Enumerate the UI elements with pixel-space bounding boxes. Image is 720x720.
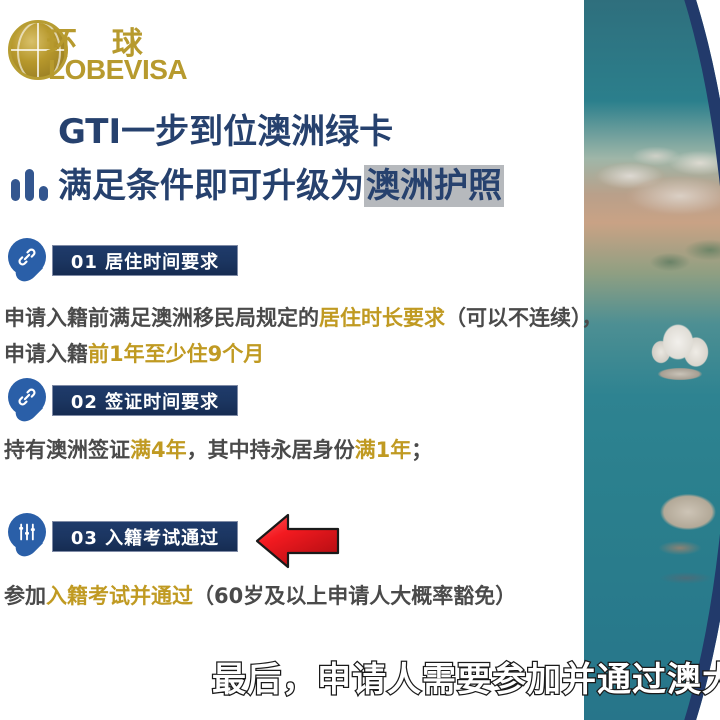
section-body-01: 申请入籍前满足澳洲移民局规定的居住时长要求（可以不连续），申请入籍前1年至少住9… bbox=[4, 300, 604, 372]
text-run: 参加 bbox=[4, 584, 46, 608]
link-icon bbox=[17, 247, 37, 267]
text-run: （60岁及以上申请人大概率豁免） bbox=[193, 584, 516, 608]
link-icon bbox=[17, 387, 37, 407]
text-run: ，其中持永居身份 bbox=[187, 438, 355, 462]
globevisa-logo: 环 球 LOBEVISA bbox=[8, 18, 208, 82]
section-banner-01[interactable]: 01 居住时间要求 bbox=[52, 245, 238, 276]
page-title-highlight: 澳洲护照 bbox=[364, 165, 504, 207]
sliders-icon bbox=[17, 522, 37, 542]
page-title-line1: GTI一步到位澳洲绿卡 bbox=[58, 104, 393, 153]
text-run-highlight: 居住时长要求 bbox=[319, 306, 445, 330]
sliders-pin-icon bbox=[8, 513, 46, 561]
section-banner-03[interactable]: 03 入籍考试通过 bbox=[52, 521, 238, 552]
bar-chart-icon bbox=[9, 167, 55, 201]
text-run: 持有澳洲签证 bbox=[4, 438, 130, 462]
logo-english-name: LOBEVISA bbox=[48, 54, 187, 86]
red-left-arrow bbox=[255, 512, 341, 570]
text-run-highlight: 前1年至少住9个月 bbox=[88, 342, 264, 366]
link-pin-icon bbox=[8, 378, 46, 426]
bottom-caption: 最后，申请人需要参加并通过澳大利 bbox=[212, 652, 720, 701]
poster-root: 环 球 LOBEVISA GTI一步到位澳洲绿卡 满足条件即可升级为澳洲护照 0… bbox=[0, 0, 720, 720]
text-run: ； bbox=[411, 438, 432, 462]
page-title-line2: 满足条件即可升级为澳洲护照 bbox=[58, 158, 504, 207]
section-body-03: 参加入籍考试并通过（60岁及以上申请人大概率豁免） bbox=[4, 578, 604, 614]
text-run-highlight: 满4年 bbox=[130, 438, 187, 462]
section-banner-02[interactable]: 02 签证时间要求 bbox=[52, 385, 238, 416]
text-run-highlight: 入籍考试并通过 bbox=[46, 584, 193, 608]
text-run-highlight: 满1年 bbox=[355, 438, 412, 462]
section-body-02: 持有澳洲签证满4年，其中持永居身份满1年； bbox=[4, 432, 604, 468]
text-run: 申请入籍前满足澳洲移民局规定的 bbox=[4, 306, 319, 330]
page-title-line2-prefix: 满足条件即可升级为 bbox=[58, 166, 364, 206]
link-pin-icon bbox=[8, 238, 46, 286]
